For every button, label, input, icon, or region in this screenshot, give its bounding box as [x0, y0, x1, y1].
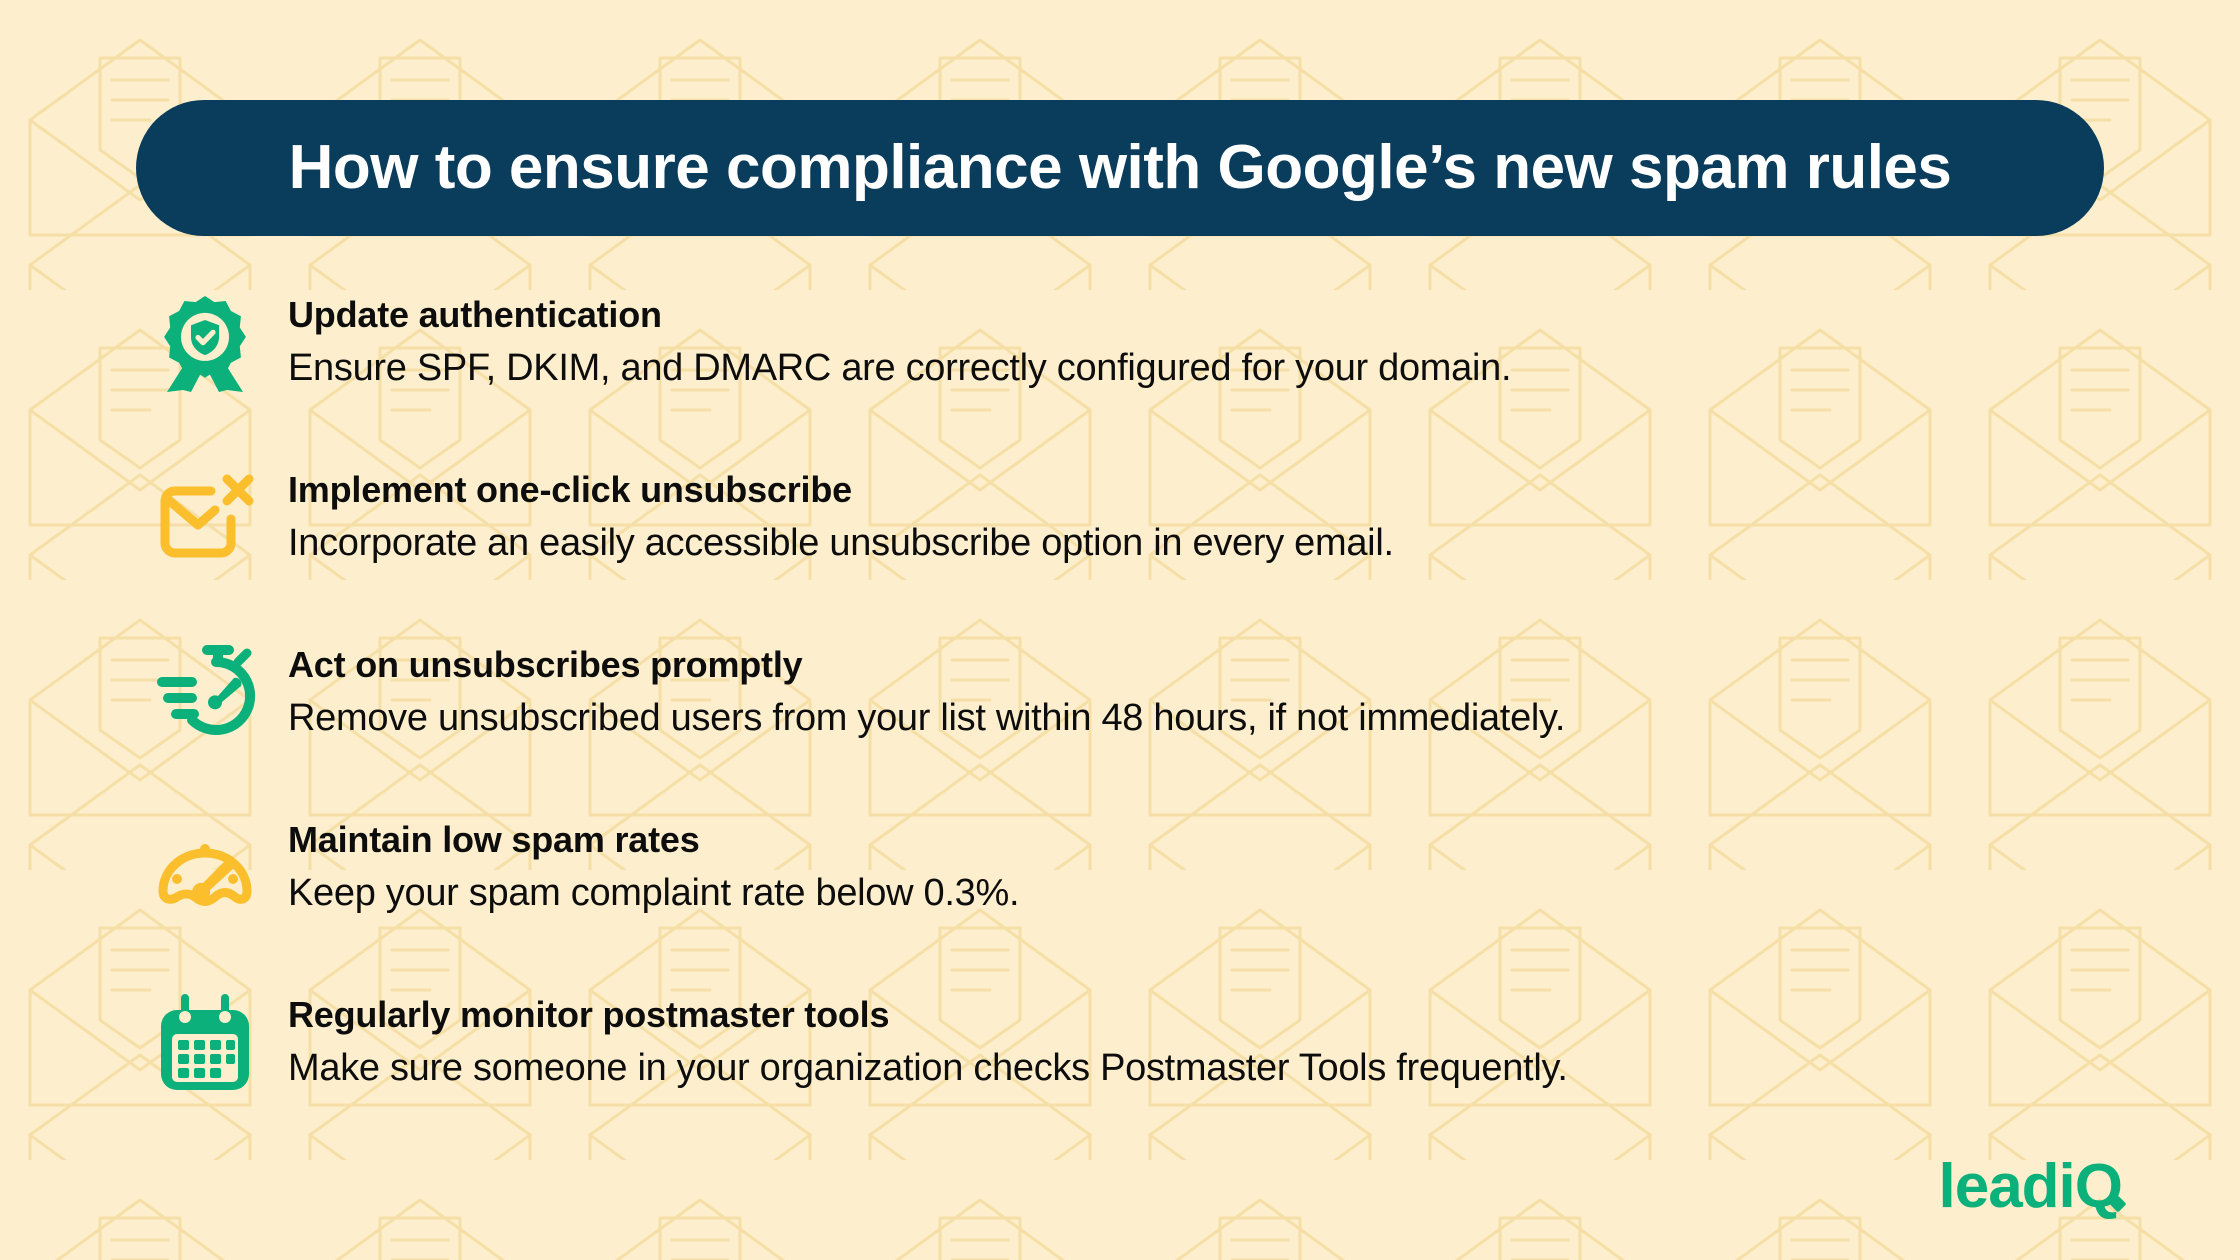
list-item: Act on unsubscribes promptly Remove unsu… — [150, 635, 2130, 810]
tip-description: Incorporate an easily accessible unsubsc… — [288, 520, 1394, 568]
tip-text-block: Act on unsubscribes promptly Remove unsu… — [260, 635, 1565, 742]
list-item: Regularly monitor postmaster tools Make … — [150, 985, 2130, 1160]
stopwatch-speed-icon — [150, 639, 260, 749]
tip-text-block: Implement one-click unsubscribe Incorpor… — [260, 460, 1394, 567]
tip-title: Update authentication — [288, 293, 1511, 337]
title-banner: How to ensure compliance with Google’s n… — [136, 100, 2104, 236]
tip-title: Act on unsubscribes promptly — [288, 643, 1565, 687]
tip-title: Maintain low spam rates — [288, 818, 1019, 862]
tip-description: Keep your spam complaint rate below 0.3%… — [288, 870, 1019, 918]
calendar-icon — [150, 989, 260, 1099]
leadiq-logo-diamond-icon — [2108, 1194, 2128, 1214]
envelope-x-icon — [150, 464, 260, 574]
tip-text-block: Update authentication Ensure SPF, DKIM, … — [260, 285, 1511, 392]
infographic-canvas: How to ensure compliance with Google’s n… — [0, 0, 2240, 1260]
tip-text-block: Maintain low spam rates Keep your spam c… — [260, 810, 1019, 917]
leadiq-logo: leadiQ — [1938, 1156, 2128, 1218]
verified-badge-icon — [150, 289, 260, 399]
gauge-icon — [150, 814, 260, 924]
list-item: Update authentication Ensure SPF, DKIM, … — [150, 285, 2130, 460]
page-title: How to ensure compliance with Google’s n… — [289, 137, 1952, 199]
tip-title: Implement one-click unsubscribe — [288, 468, 1394, 512]
list-item: Maintain low spam rates Keep your spam c… — [150, 810, 2130, 985]
tip-description: Make sure someone in your organization c… — [288, 1045, 1568, 1093]
tip-text-block: Regularly monitor postmaster tools Make … — [260, 985, 1568, 1092]
list-item: Implement one-click unsubscribe Incorpor… — [150, 460, 2130, 635]
tip-description: Remove unsubscribed users from your list… — [288, 695, 1565, 743]
leadiq-logo-text: leadiQ — [1938, 1156, 2122, 1218]
tip-title: Regularly monitor postmaster tools — [288, 993, 1568, 1037]
tip-description: Ensure SPF, DKIM, and DMARC are correctl… — [288, 345, 1511, 393]
tips-list: Update authentication Ensure SPF, DKIM, … — [150, 285, 2130, 1160]
